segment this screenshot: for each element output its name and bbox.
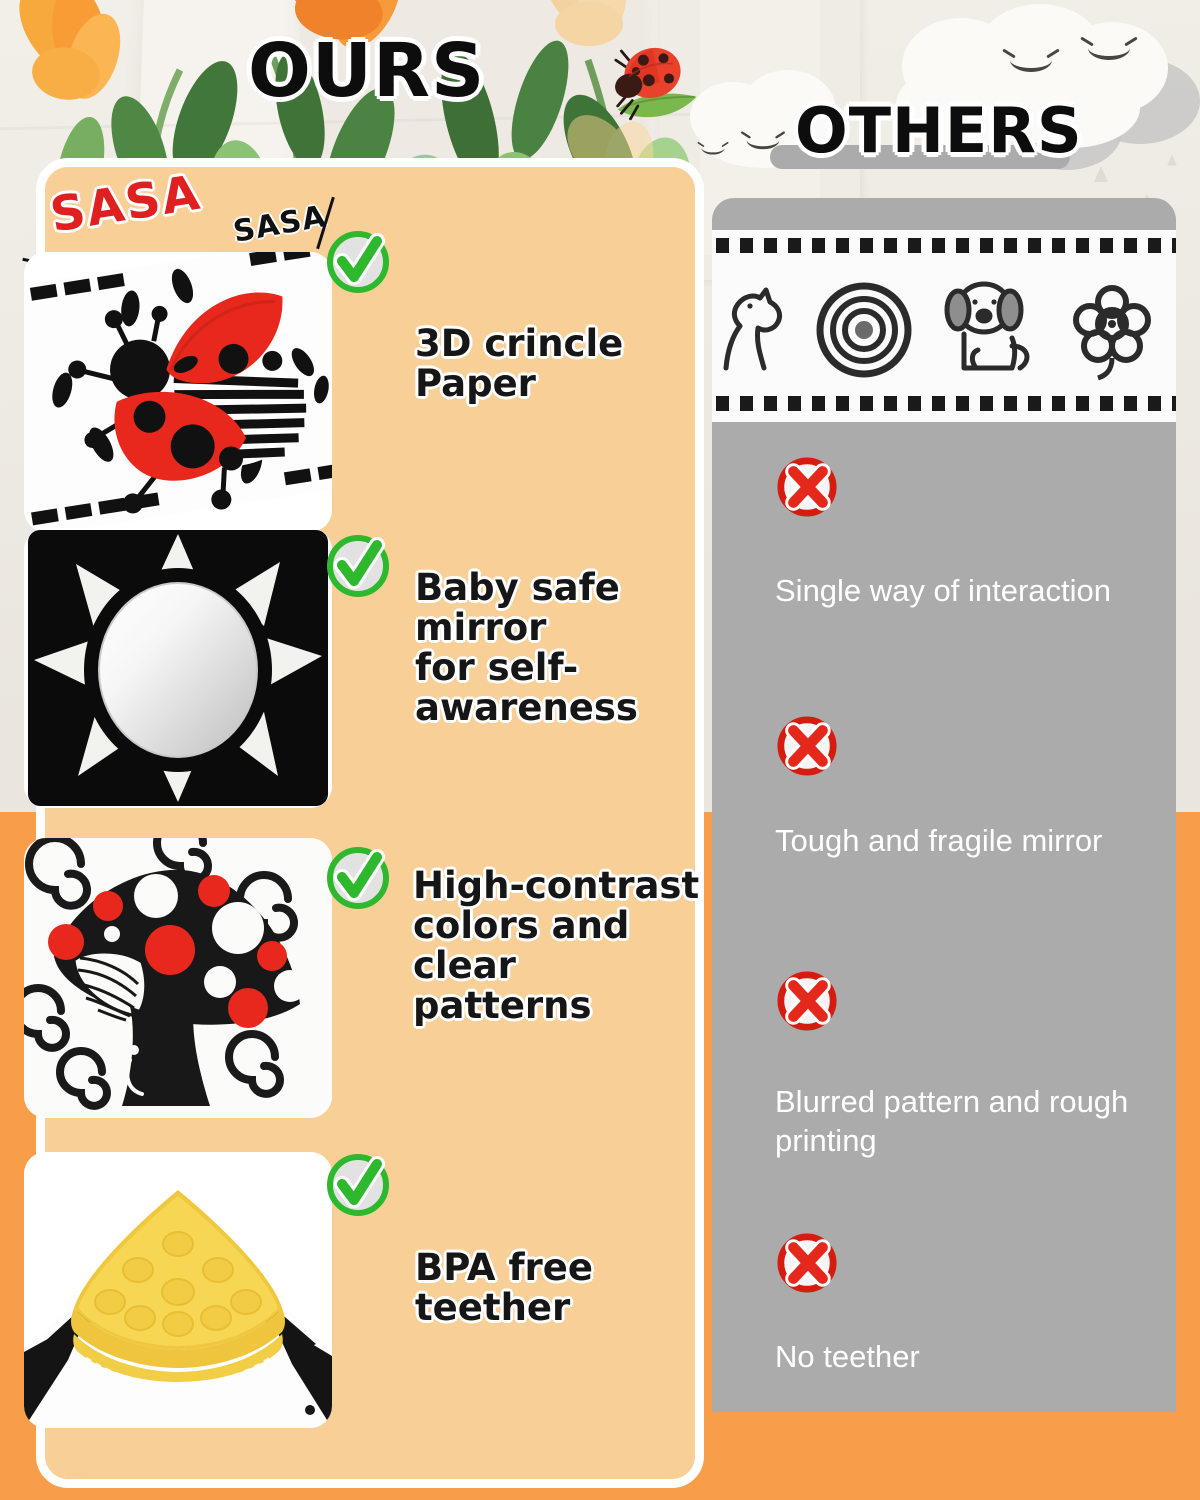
others-item-label: Blurred pattern and rough printing — [775, 1083, 1140, 1161]
rocking-horse-icon — [726, 290, 780, 368]
cross-icon — [776, 715, 838, 777]
product-photo-crinkle-book — [24, 252, 332, 532]
dashed-border-top — [712, 238, 1176, 254]
product-photo-mushroom — [24, 838, 332, 1118]
closed-eye-icon — [701, 141, 724, 154]
cross-icon — [776, 456, 838, 518]
check-icon — [325, 1152, 391, 1218]
others-icon-row — [712, 276, 1176, 386]
product-photo-teether — [24, 1152, 332, 1428]
rain-drop-icon — [1094, 166, 1108, 182]
bullseye-icon — [820, 286, 908, 374]
ours-item-label: BPA free teether — [415, 1248, 705, 1328]
check-icon — [325, 845, 391, 911]
check-icon — [325, 229, 391, 295]
page-title-others: OTHERS — [795, 94, 1083, 167]
infographic-stage: OURS OTHERS — [0, 0, 1200, 1500]
flower-icon — [1076, 288, 1148, 378]
ours-item-label: Baby safe mirror for self- awareness — [415, 568, 705, 728]
product-photo-sun-mirror — [24, 528, 332, 808]
ours-item-label: High-contrast colors and clear patterns — [413, 866, 708, 1026]
others-item-label: No teether — [775, 1338, 1135, 1377]
cross-icon — [776, 970, 838, 1032]
cross-icon — [776, 1232, 838, 1294]
closed-eye-icon — [1010, 48, 1052, 72]
bottom-orange-band-right — [712, 1412, 1200, 1500]
rain-drop-icon — [1167, 154, 1177, 165]
check-icon — [325, 533, 391, 599]
dog-icon — [947, 284, 1027, 368]
page-title-ours: OURS — [248, 28, 485, 114]
ours-item-label: 3D crincle Paper — [415, 324, 705, 404]
others-product-image — [712, 230, 1176, 422]
ladybug-icon — [612, 40, 704, 128]
closed-eye-icon — [1088, 36, 1130, 60]
others-item-label: Tough and fragile mirror — [775, 822, 1135, 861]
dashed-border-bottom — [712, 396, 1176, 412]
others-item-label: Single way of interaction — [775, 572, 1135, 611]
